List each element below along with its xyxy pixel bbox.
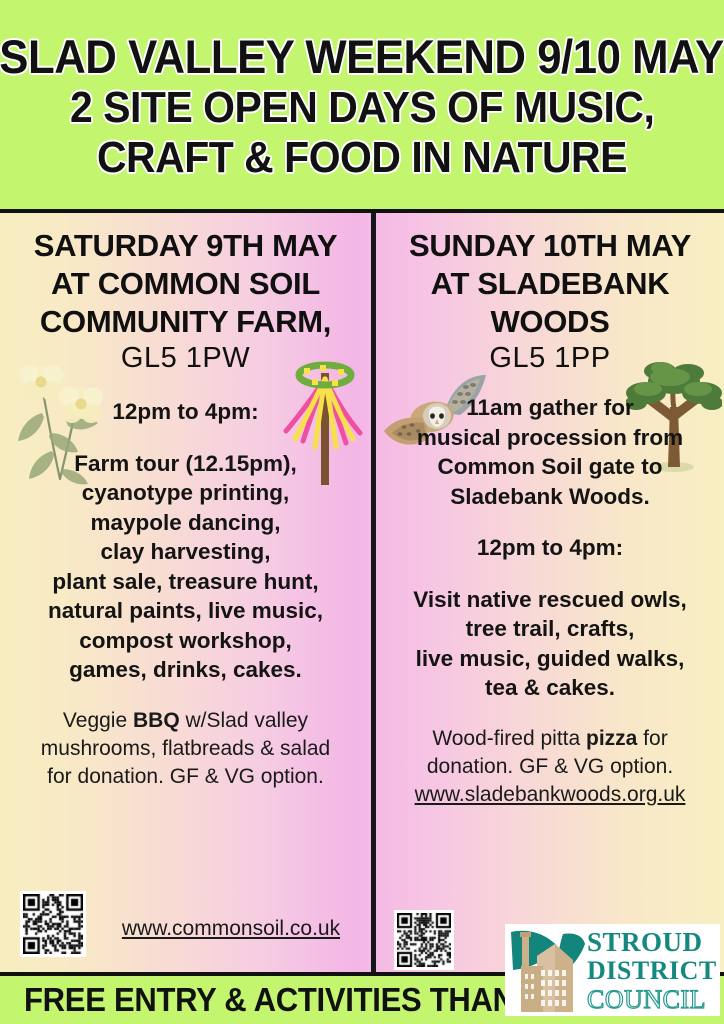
- header-line-1: SLAD VALLEY WEEKEND 9/10 MAY: [0, 33, 724, 80]
- saturday-activity-7: games, drinks, cakes.: [10, 655, 361, 684]
- sunday-title-line-2: AT SLADEBANK: [384, 265, 716, 303]
- food-pre: Wood-fired pitta: [432, 727, 586, 750]
- food-pre: Veggie: [63, 709, 133, 732]
- saturday-activity-6: compost workshop,: [10, 626, 361, 655]
- saturday-activity-4: plant sale, treasure hunt,: [10, 567, 361, 596]
- sunday-column: SUNDAY 10TH MAY AT SLADEBANK WOODS GL5 1…: [376, 213, 724, 972]
- sladebankwoods-website-link[interactable]: www.sladebankwoods.org.uk: [384, 781, 716, 809]
- sdc-word-stroud: STROUD: [587, 929, 719, 956]
- sdc-word-council: COUNCIL: [587, 987, 719, 1013]
- food-bbq: BBQ: [133, 709, 180, 732]
- commonsoil-website-link[interactable]: www.commonsoil.co.uk: [100, 917, 362, 941]
- sunday-gather-1: musical procession from: [384, 423, 716, 452]
- poster-header-banner: SLAD VALLEY WEEKEND 9/10 MAY 2 SITE OPEN…: [0, 0, 724, 213]
- saturday-title-line-2: AT COMMON SOIL: [10, 265, 361, 303]
- saturday-activity-0: Farm tour (12.15pm),: [10, 449, 361, 478]
- saturday-activity-3: clay harvesting,: [10, 537, 361, 566]
- sdc-wordmark: STROUD DISTRICT COUNCIL: [587, 928, 719, 1014]
- sunday-activity-3: tea & cakes.: [384, 673, 716, 702]
- header-line-3: CRAFT & FOOD IN NATURE: [97, 136, 627, 180]
- saturday-food-line-1: Veggie BBQ w/Slad valley: [10, 707, 361, 735]
- food-post: w/Slad valley: [180, 709, 308, 732]
- sunday-gather-3: Sladebank Woods.: [384, 482, 716, 511]
- sunday-food-line-2: donation. GF & VG option.: [384, 753, 716, 781]
- poster-root: SLAD VALLEY WEEKEND 9/10 MAY 2 SITE OPEN…: [0, 0, 724, 1024]
- sdc-word-district: DISTRICT: [587, 958, 719, 984]
- sunday-activity-0: Visit native rescued owls,: [384, 585, 716, 614]
- sunday-activity-2: live music, guided walks,: [384, 644, 716, 673]
- sunday-activity-1: tree trail, crafts,: [384, 614, 716, 643]
- saturday-column: SATURDAY 9TH MAY AT COMMON SOIL COMMUNIT…: [0, 213, 371, 972]
- sunday-title-line-3: WOODS: [384, 303, 716, 341]
- sunday-gather-0: 11am gather for: [384, 393, 716, 422]
- saturday-title-line-1: SATURDAY 9TH MAY: [10, 227, 361, 265]
- sunday-times: 12pm to 4pm:: [384, 533, 716, 562]
- saturday-times: 12pm to 4pm:: [10, 397, 361, 426]
- sunday-postcode: GL5 1PP: [384, 342, 716, 375]
- commonsoil-qr-code[interactable]: [20, 891, 86, 957]
- saturday-activity-1: cyanotype printing,: [10, 478, 361, 507]
- sladebankwoods-qr-code[interactable]: [394, 910, 454, 970]
- food-pizza: pizza: [586, 727, 637, 750]
- saturday-food-line-2: mushrooms, flatbreads & salad: [10, 735, 361, 763]
- food-post: for: [637, 727, 667, 750]
- sdc-mill-mark-icon: [507, 926, 585, 1014]
- saturday-title-line-3: COMMUNITY FARM,: [10, 303, 361, 341]
- sunday-title-line-1: SUNDAY 10TH MAY: [384, 227, 716, 265]
- stroud-district-council-logo: STROUD DISTRICT COUNCIL: [505, 924, 720, 1016]
- saturday-activity-5: natural paints, live music,: [10, 596, 361, 625]
- header-line-2: 2 SITE OPEN DAYS OF MUSIC,: [70, 86, 654, 130]
- sunday-gather-2: Common Soil gate to: [384, 452, 716, 481]
- saturday-activity-2: maypole dancing,: [10, 508, 361, 537]
- sunday-food-line-1: Wood-fired pitta pizza for: [384, 725, 716, 753]
- saturday-food-line-3: for donation. GF & VG option.: [10, 763, 361, 791]
- saturday-postcode: GL5 1PW: [10, 342, 361, 375]
